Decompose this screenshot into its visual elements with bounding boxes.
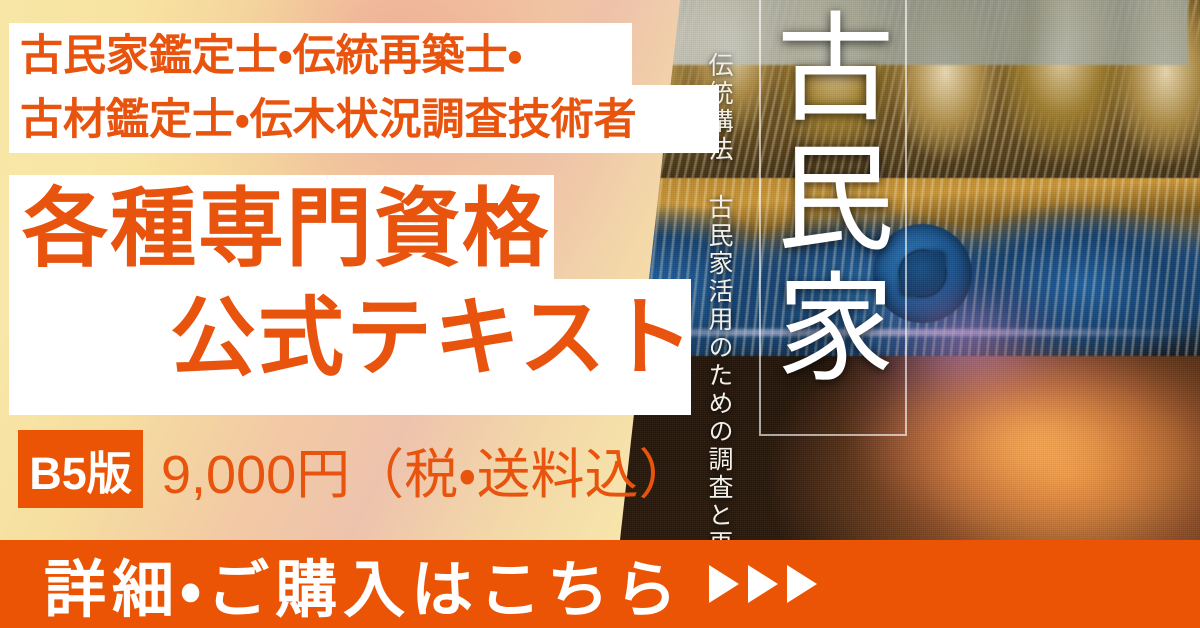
cta-bar[interactable]: 詳細・ご購入はこちら (0, 540, 1200, 628)
headline-text: 各種専門資格 公式テキスト (22, 179, 702, 397)
eyebrow-line2: 古材鑑定士・伝木状況調査技術者 (20, 88, 720, 152)
format-badge: B5版 (18, 430, 143, 508)
eyebrow-text: 古民家鑑定士・伝統再築士・ 古材鑑定士・伝木状況調査技術者 (20, 24, 720, 152)
cta-arrow-group (709, 565, 817, 603)
book-cover-title: 古民家 (775, 6, 893, 396)
price-amount: 9,000円（税・送料込） (161, 430, 693, 509)
headline-line1: 各種専門資格 (22, 179, 702, 279)
promo-banner: 古民家 伝統構法 古民家活用のための調査と再生の 古民家鑑定士・伝統再築士・ 古… (0, 0, 1200, 628)
play-arrow-icon-1 (709, 565, 739, 603)
play-arrow-icon-2 (748, 565, 778, 603)
eyebrow-line1: 古民家鑑定士・伝統再築士・ (20, 24, 720, 88)
cta-label: 詳細・ご購入はこちら (44, 539, 683, 628)
headline-line2: 公式テキスト (22, 279, 702, 397)
play-arrow-icon-3 (787, 565, 817, 603)
price-row: B5版 9,000円（税・送料込） (18, 430, 693, 508)
